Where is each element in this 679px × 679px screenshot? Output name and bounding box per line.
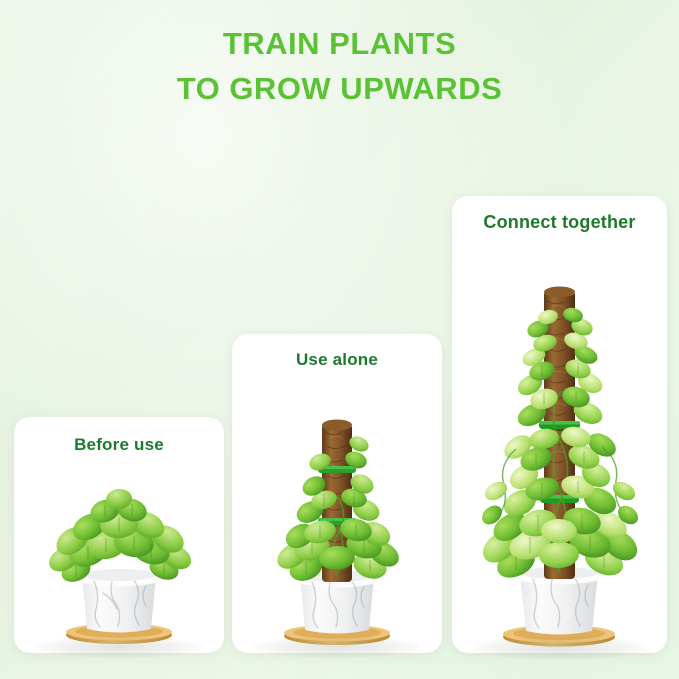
page-title: TRAIN PLANTS TO GROW UPWARDS bbox=[0, 22, 679, 112]
pothos-plant-graphic bbox=[14, 453, 224, 653]
card-connect-together: Connect together bbox=[452, 196, 667, 653]
moss-pole-stacked-graphic bbox=[452, 233, 667, 653]
plant-illustration-use-alone bbox=[232, 334, 442, 653]
card-before-use: Before use bbox=[14, 417, 224, 653]
headline-line-2: TO GROW UPWARDS bbox=[0, 67, 679, 112]
plant-illustration-connect-together bbox=[452, 196, 667, 653]
card-use-alone: Use alone bbox=[232, 334, 442, 653]
moss-pole-single-graphic bbox=[232, 368, 442, 653]
poster: TRAIN PLANTS TO GROW UPWARDS Before use bbox=[0, 0, 679, 679]
headline-line-1: TRAIN PLANTS bbox=[0, 22, 679, 67]
plant-illustration-before-use bbox=[14, 417, 224, 653]
